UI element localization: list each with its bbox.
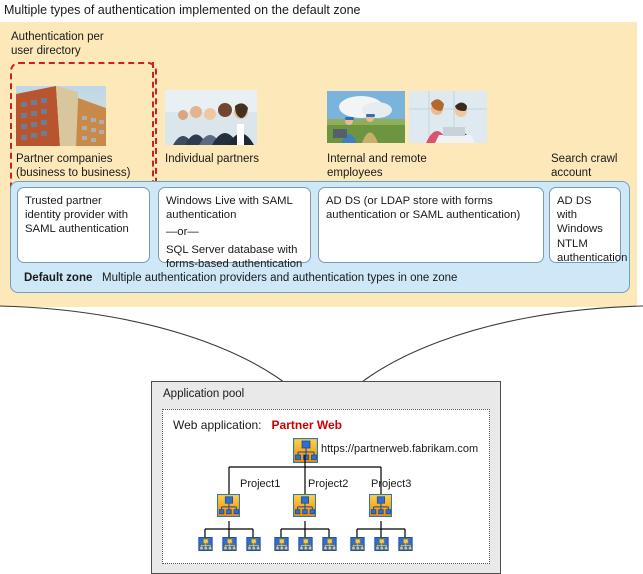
default-zone-description: Default zone Multiple authentication pro…	[24, 271, 624, 285]
application-pool-label: Application pool	[163, 388, 244, 400]
column-caption-internal-remote-employees: Internal and remote employees	[327, 152, 507, 180]
auth-line-2: identity provider with	[25, 208, 142, 222]
caption-line-2: (business to business)	[16, 167, 130, 179]
auth-line-1: AD DS with	[557, 194, 613, 222]
auth-box-trusted-partner-idp: Trusted partner identity provider with S…	[17, 187, 150, 263]
site-icon[interactable]	[217, 494, 240, 517]
subsite-icon[interactable]	[398, 537, 413, 551]
auth-line-3: SAML authentication	[25, 222, 142, 236]
auth-or-separator: —or—	[166, 225, 303, 239]
column-caption-individual-partners: Individual partners	[165, 152, 315, 166]
caption-line-1: Internal and remote	[327, 153, 427, 165]
auth-line-4: forms-based authentication	[166, 257, 303, 271]
project-label-3: Project3	[371, 478, 411, 490]
auth-line-2: Windows NTLM	[557, 222, 613, 250]
auth-line-1: Trusted partner	[25, 194, 142, 208]
site-icon[interactable]	[293, 494, 316, 517]
default-zone-label: Default zone	[24, 272, 92, 284]
default-zone-text: Multiple authentication providers and au…	[102, 272, 457, 284]
authentication-per-user-directory-label: Authentication per user directory	[11, 30, 171, 58]
web-application-name: Partner Web	[272, 418, 342, 432]
subsite-icon[interactable]	[322, 537, 337, 551]
auth-line-2: authentication	[166, 208, 303, 222]
auth-box-windows-live-saml: Windows Live with SAML authentication —o…	[158, 187, 311, 263]
page-title: Multiple types of authentication impleme…	[4, 2, 624, 19]
subsite-icon[interactable]	[222, 537, 237, 551]
project-label-1: Project1	[240, 478, 280, 490]
auth-line-3: authentication	[557, 251, 613, 265]
site-url-label: https://partnerweb.fabrikam.com	[321, 443, 478, 455]
web-application-title: Web application: Partner Web	[173, 418, 342, 432]
subsite-icon[interactable]	[198, 537, 213, 551]
caption-line-1: Partner companies	[16, 153, 113, 165]
business-people-photo	[165, 90, 257, 145]
site-icon[interactable]	[369, 494, 392, 517]
column-caption-search-crawl-account: Search crawl account	[551, 152, 637, 180]
subsite-icon[interactable]	[274, 537, 289, 551]
auth-box-ad-ds-ldap: AD DS (or LDAP store with forms authenti…	[318, 187, 544, 263]
auth-label-line-2: user directory	[11, 45, 81, 57]
column-caption-partner-companies: Partner companies (business to business)	[16, 152, 156, 180]
auth-box-ad-ds-ntlm: AD DS with Windows NTLM authentication	[549, 187, 621, 263]
field-workers-photo	[327, 91, 405, 143]
subsite-icon[interactable]	[246, 537, 261, 551]
caption-line-2: account	[551, 167, 591, 179]
buildings-photo	[16, 86, 106, 146]
subsite-icon[interactable]	[350, 537, 365, 551]
auth-line-1: Windows Live with SAML	[166, 194, 303, 208]
caption-line-1: Individual partners	[165, 153, 259, 165]
caption-line-1: Search crawl	[551, 153, 617, 165]
subsite-icon[interactable]	[298, 537, 313, 551]
subsite-icon[interactable]	[374, 537, 389, 551]
auth-label-line-1: Authentication per	[11, 31, 104, 43]
auth-line-1: AD DS (or LDAP store with forms	[326, 194, 536, 208]
web-application-prefix: Web application:	[173, 418, 262, 432]
auth-line-2: authentication or SAML authentication)	[326, 208, 536, 222]
caption-line-2: employees	[327, 167, 383, 179]
project-label-2: Project2	[308, 478, 348, 490]
office-workers-photo	[409, 91, 487, 143]
auth-line-3: SQL Server database with	[166, 243, 303, 257]
